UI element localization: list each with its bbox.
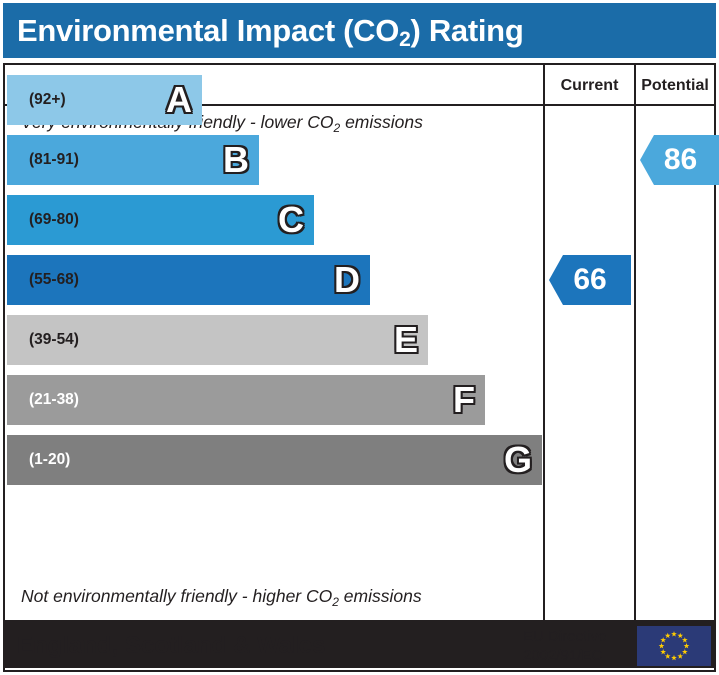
band-letter-label: C: [278, 202, 304, 238]
current-rating-value: 66: [573, 263, 606, 297]
band-range-label: (1-20): [29, 451, 70, 469]
epc-environmental-impact-chart: Environmental Impact (CO2) Rating Curren…: [0, 0, 719, 675]
page-title: Environmental Impact (CO2) Rating: [17, 13, 523, 49]
band-range-label: (21-38): [29, 391, 79, 409]
current-column-divider: [543, 65, 545, 622]
rating-band-c: (69-80)C: [7, 195, 314, 245]
page-title-main: Environmental Impact (CO: [17, 13, 399, 48]
rating-band-b: (81-91)B: [7, 135, 259, 185]
column-header-potential: Potential: [636, 74, 714, 98]
potential-rating-arrow: 86: [640, 135, 719, 185]
rating-band-a: (92+)A: [7, 75, 202, 125]
rating-bands: (92+)A(81-91)B(69-80)C(55-68)D(39-54)E(2…: [5, 65, 543, 620]
rating-band-e: (39-54)E: [7, 315, 428, 365]
band-letter-label: D: [334, 262, 360, 298]
page-title-tail: ) Rating: [410, 13, 523, 48]
band-range-label: (39-54): [29, 331, 79, 349]
rating-band-d: (55-68)D: [7, 255, 370, 305]
eu-flag-icon: [637, 626, 711, 666]
eu-directive-line1: EU Directive: [523, 627, 606, 646]
rating-band-g: (1-20)G: [7, 435, 542, 485]
band-range-label: (92+): [29, 91, 66, 109]
caption-bottom-subscript: 2: [332, 595, 339, 609]
band-letter-label: E: [394, 322, 418, 358]
rating-table: Current Potential Very environmentally f…: [3, 63, 716, 672]
band-letter-label: A: [166, 82, 192, 118]
eu-directive-line2: 2002/91/EC: [523, 646, 606, 665]
column-header-current: Current: [545, 74, 634, 98]
potential-rating-value: 86: [664, 143, 697, 177]
caption-bottom-tail: emissions: [339, 586, 422, 606]
caption-bottom-main: Not environmentally friendly - higher CO: [21, 586, 332, 606]
band-range-label: (55-68): [29, 271, 79, 289]
region-label: England, Scotland & Wales: [17, 632, 325, 660]
band-letter-label: F: [453, 382, 475, 418]
current-rating-arrow: 66: [549, 255, 631, 305]
eu-directive-label: EU Directive 2002/91/EC: [523, 627, 606, 665]
footer-row: England, Scotland & Wales EU Directive 2…: [5, 622, 714, 670]
band-range-label: (81-91): [29, 151, 79, 169]
page-title-subscript: 2: [399, 28, 410, 51]
potential-column-divider: [634, 65, 636, 622]
band-range-label: (69-80): [29, 211, 79, 229]
caption-bottom: Not environmentally friendly - higher CO…: [21, 586, 422, 607]
rating-band-f: (21-38)F: [7, 375, 485, 425]
chart-title-banner: Environmental Impact (CO2) Rating: [3, 3, 716, 58]
band-letter-label: G: [504, 442, 532, 478]
band-letter-label: B: [223, 142, 249, 178]
